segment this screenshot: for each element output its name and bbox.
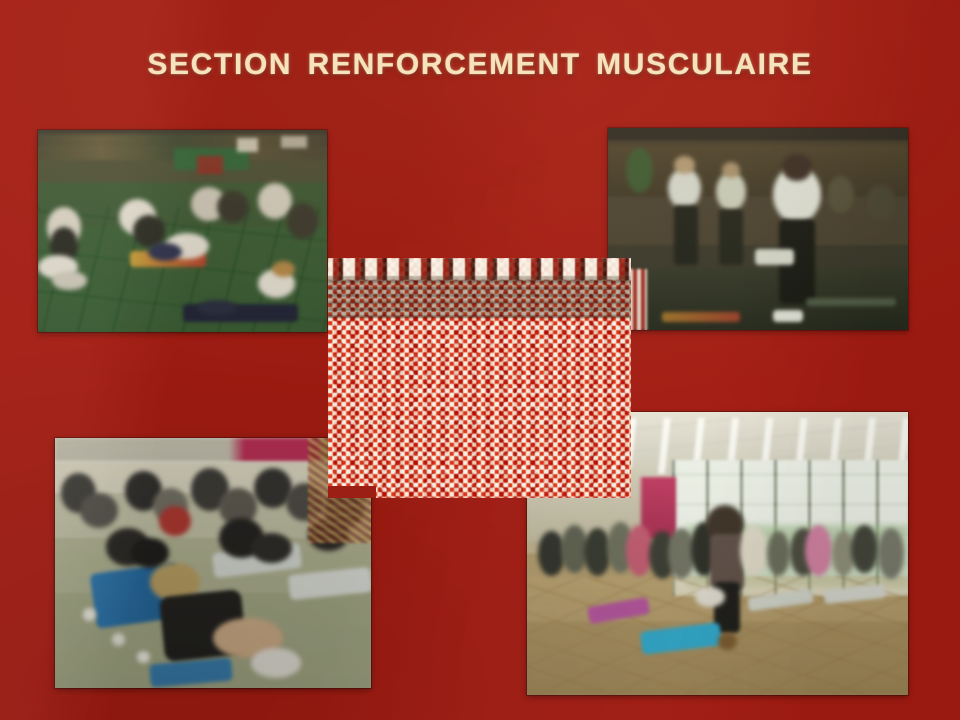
photo-bottom-left-scene — [55, 438, 371, 688]
photo-bottom-left — [55, 438, 371, 688]
page-title: SECTION RENFORCEMENT MUSCULAIRE — [0, 48, 960, 82]
glitch-artifact-center — [328, 258, 631, 498]
photo-top-right-scene — [608, 128, 908, 330]
glitch-dark-band — [328, 276, 631, 318]
photo-top-left-scene — [38, 130, 327, 332]
photo-top-right — [608, 128, 908, 330]
glitch-tail-block — [328, 486, 376, 498]
photo-top-left — [38, 130, 327, 332]
hall-back-wall — [608, 144, 908, 197]
slide-canvas: SECTION RENFORCEMENT MUSCULAIRE — [0, 0, 960, 720]
